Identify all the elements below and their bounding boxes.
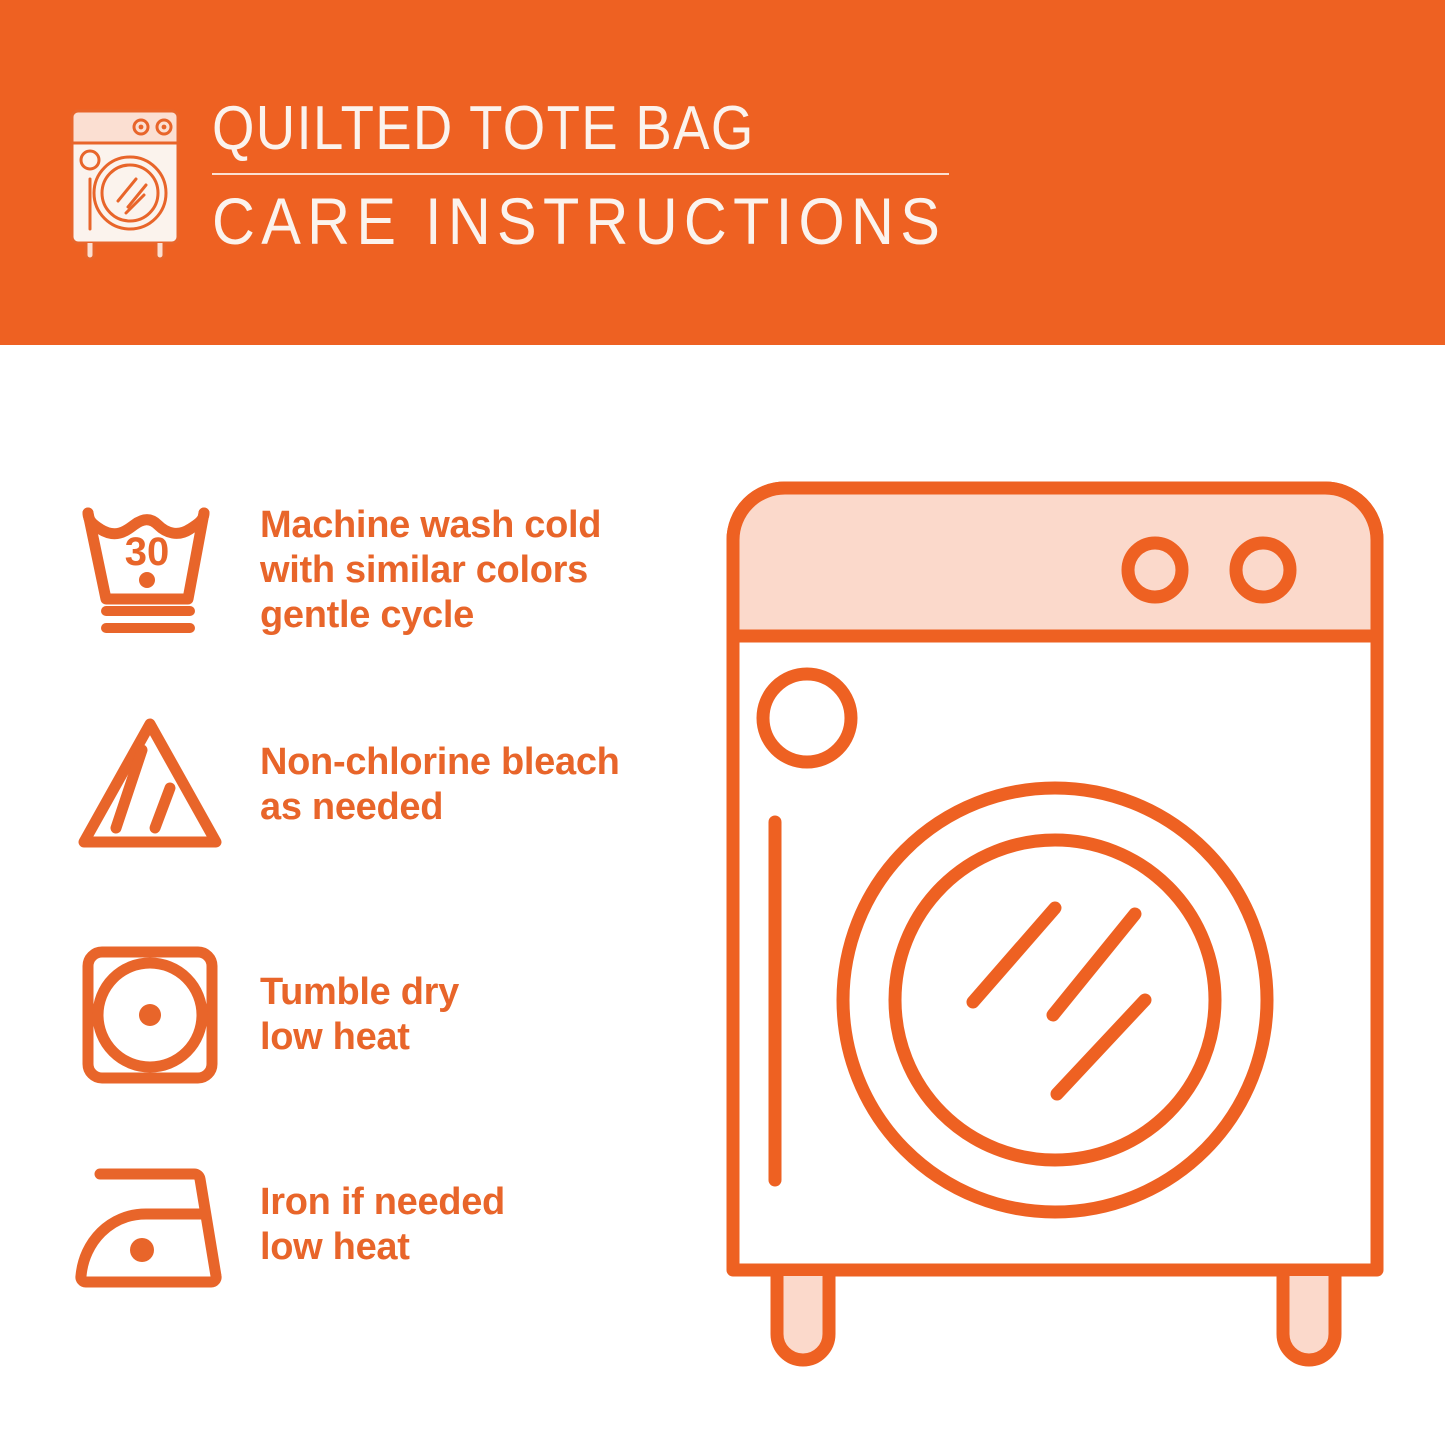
- page-title: QUILTED TOTE BAG: [212, 95, 930, 167]
- care-item-tumble-dry: Tumble dry low heat: [70, 940, 690, 1090]
- care-item-bleach: Non-chlorine bleach as needed: [70, 710, 690, 860]
- washer-knob-left: [1128, 543, 1182, 597]
- header-banner: QUILTED TOTE BAG CARE INSTRUCTIONS: [0, 0, 1445, 345]
- front-load-washing-machine-illustration: [715, 470, 1395, 1380]
- care-item-label: Tumble dry low heat: [260, 970, 459, 1060]
- header-content: QUILTED TOTE BAG CARE INSTRUCTIONS: [66, 95, 1028, 263]
- wash-temperature-label: 30: [125, 530, 170, 574]
- care-item-machine-wash: 30 Machine wash cold with similar colors…: [70, 495, 690, 645]
- care-item-label: Non-chlorine bleach as needed: [260, 740, 620, 830]
- washing-machine-icon: [66, 103, 184, 263]
- title-divider: [212, 173, 949, 175]
- tumble-dry-low-icon: [70, 940, 230, 1090]
- care-instruction-list: 30 Machine wash cold with similar colors…: [0, 345, 700, 1445]
- care-item-label: Machine wash cold with similar colors ge…: [260, 503, 601, 638]
- header-title-group: QUILTED TOTE BAG CARE INSTRUCTIONS: [212, 95, 1028, 257]
- care-item-iron: Iron if needed low heat: [70, 1150, 690, 1300]
- washer-knob-right: [1236, 543, 1290, 597]
- machine-wash-cold-30-icon: 30: [70, 495, 230, 645]
- care-instructions-title: CARE INSTRUCTIONS: [212, 185, 946, 257]
- washer-leg-right: [1283, 1276, 1335, 1360]
- washer-leg-left: [777, 1276, 829, 1360]
- non-chlorine-bleach-icon: [70, 710, 230, 860]
- care-item-label: Iron if needed low heat: [260, 1180, 505, 1270]
- iron-low-heat-icon: [70, 1150, 230, 1300]
